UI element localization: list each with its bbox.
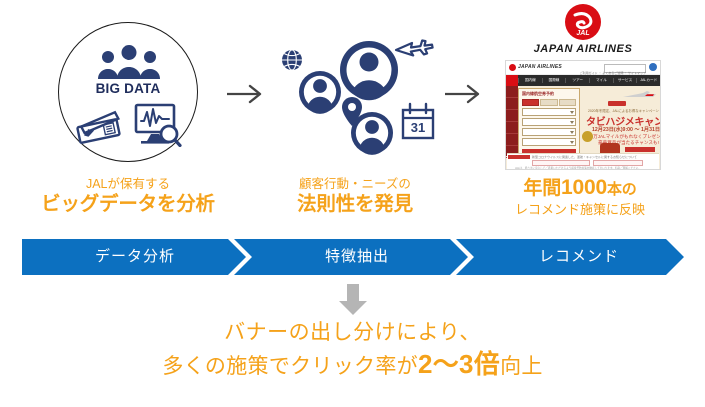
svg-text:31: 31 — [411, 120, 425, 135]
airplane-icon — [396, 41, 433, 56]
site-body: 国内線航空券予約 — [506, 86, 660, 170]
site-subnav[interactable]: ご利用ガイド ・ よくあるご質問 ・ サイトマップ — [580, 71, 646, 75]
jal-website-screenshot: JAPAN AIRLINES ご利用ガイド ・ よくあるご質問 ・ サイトマップ… — [505, 60, 661, 170]
campaign-period: 12月23日(水)9:00 〜 1月31日(日)23時59分 — [592, 126, 661, 133]
site-topbar: JAPAN AIRLINES ご利用ガイド ・ よくあるご質問 ・ サイトマップ — [506, 61, 660, 75]
caption-2-small: 顧客行動・ニーズの — [255, 176, 455, 192]
process-banner: データ分析 特徴抽出 レコメンド — [22, 239, 684, 275]
campaign-cta-button[interactable] — [625, 147, 655, 152]
caption-3-line2: レコメンド施策に反映 — [455, 202, 705, 218]
jal-brand: JAL JAPAN AIRLINES — [497, 2, 669, 58]
rail-cell[interactable] — [506, 98, 518, 110]
rail-cell[interactable] — [506, 86, 518, 98]
caption-3-line1: 年間1000本の — [455, 176, 705, 202]
conclusion-line-1: バナーの出し分けにより、 — [0, 318, 705, 348]
process-step-label-3: レコメンド — [472, 239, 686, 275]
analytics-monitor-icon — [133, 103, 183, 147]
nav-item[interactable]: ツアー — [565, 78, 589, 83]
booking-panel: 国内線航空券予約 — [518, 88, 580, 154]
booking-tab-oneway[interactable] — [540, 99, 557, 106]
rail-cell[interactable] — [506, 110, 518, 122]
site-notice-area: 新型コロナウイルスに関連した、運航・キャンセルに関するお知らせについて JALは… — [507, 153, 659, 170]
booking-panel-title: 国内線航空券予約 — [522, 91, 576, 97]
boarding-pass-icon — [73, 103, 123, 145]
caption-stage-3: 年間1000本の レコメンド施策に反映 — [455, 176, 705, 218]
booking-tabs[interactable] — [522, 99, 576, 106]
person-avatar-icon — [299, 71, 341, 114]
process-step-label-2: 特徴抽出 — [250, 239, 464, 275]
infographic-root: BIG DATA — [0, 0, 705, 407]
caption-stage-1: JALが保有する ビッグデータを分析 — [0, 176, 256, 216]
booking-tab-multi[interactable] — [559, 99, 576, 106]
campaign-badge — [608, 101, 626, 106]
conclusion-text: バナーの出し分けにより、 多くの施策でクリック率が2〜3倍向上 — [0, 318, 705, 383]
caption-2-big: 法則性を発見 — [255, 192, 455, 216]
globe-icon — [282, 50, 302, 70]
campaign-hero[interactable]: 2020年冬限定、JALによるお得なキャンペーン タビハジメキャンペーン 12月… — [582, 87, 659, 154]
booking-field-passengers[interactable] — [522, 138, 576, 146]
conclusion-highlight: 2〜3倍 — [418, 349, 500, 379]
caption-3-suffix: 本の — [607, 181, 637, 198]
svg-text:JAL: JAL — [576, 30, 589, 37]
booking-tab-roundtrip[interactable] — [522, 99, 539, 106]
site-main-nav[interactable]: 国内線 国際線 ツアー マイル サービス JALカード — [506, 75, 660, 86]
conclusion-line-2-suffix: 向上 — [500, 355, 543, 378]
booking-field-origin[interactable] — [522, 108, 576, 116]
nav-item[interactable]: サービス — [613, 78, 637, 83]
caption-stage-2: 顧客行動・ニーズの 法則性を発見 — [255, 176, 455, 216]
big-data-circle: BIG DATA — [58, 22, 198, 162]
caption-3-prefix: 年間 — [523, 178, 561, 199]
arrow-right-icon — [444, 82, 482, 106]
notice-badge — [508, 155, 530, 159]
arrow-right-icon — [226, 82, 264, 106]
airplane-photo-icon — [623, 91, 657, 101]
conclusion-line-2: 多くの施策でクリック率が2〜3倍向上 — [0, 348, 705, 383]
jal-wordmark: JAPAN AIRLINES — [497, 43, 669, 55]
campaign-seal-icon — [582, 131, 593, 142]
calendar-icon: 31 — [403, 104, 433, 138]
caption-1-small: JALが保有する — [0, 176, 256, 192]
site-logo-text: JAPAN AIRLINES — [518, 64, 562, 70]
person-avatar-icon — [340, 41, 398, 100]
booking-field-destination[interactable] — [522, 118, 576, 126]
nav-item[interactable]: JALカード — [636, 78, 660, 83]
jal-tsurumaru-logo: JAL — [563, 2, 603, 42]
process-step-label-1: データ分析 — [28, 239, 242, 275]
stages-row: BIG DATA — [0, 0, 705, 230]
rail-cell[interactable] — [506, 134, 518, 146]
language-globe-icon[interactable] — [649, 63, 657, 71]
jal-site-block: JAL JAPAN AIRLINES JAPAN AIRLINES ご利用ガイド… — [497, 2, 669, 172]
booking-field-date[interactable] — [522, 128, 576, 136]
caption-1-big: ビッグデータを分析 — [0, 192, 256, 216]
big-data-icons: BIG DATA — [59, 23, 197, 161]
nav-item[interactable]: 国内線 — [518, 78, 542, 83]
nav-item[interactable]: 国際線 — [542, 78, 566, 83]
site-left-rail[interactable] — [506, 86, 518, 156]
people-icon — [95, 45, 163, 79]
big-data-label: BIG DATA — [59, 81, 197, 96]
conclusion-line-2-prefix: 多くの施策でクリック率が — [162, 355, 418, 378]
site-logo-mark — [509, 64, 516, 71]
caption-3-number: 1000 — [561, 176, 607, 199]
nav-item[interactable]: マイル — [589, 78, 613, 83]
notice-fineprint: JALは、皆さまに安心してご搭乗いただけるよう感染予防対策を徹底してまいります。… — [515, 166, 641, 170]
arrow-down-icon — [338, 284, 368, 316]
notice-headline[interactable]: 新型コロナウイルスに関連した、運航・キャンセルに関するお知らせについて — [532, 155, 637, 159]
rail-cell[interactable] — [506, 122, 518, 134]
nav-home-icon[interactable] — [506, 75, 518, 86]
persona-cluster: 31 — [272, 30, 438, 160]
